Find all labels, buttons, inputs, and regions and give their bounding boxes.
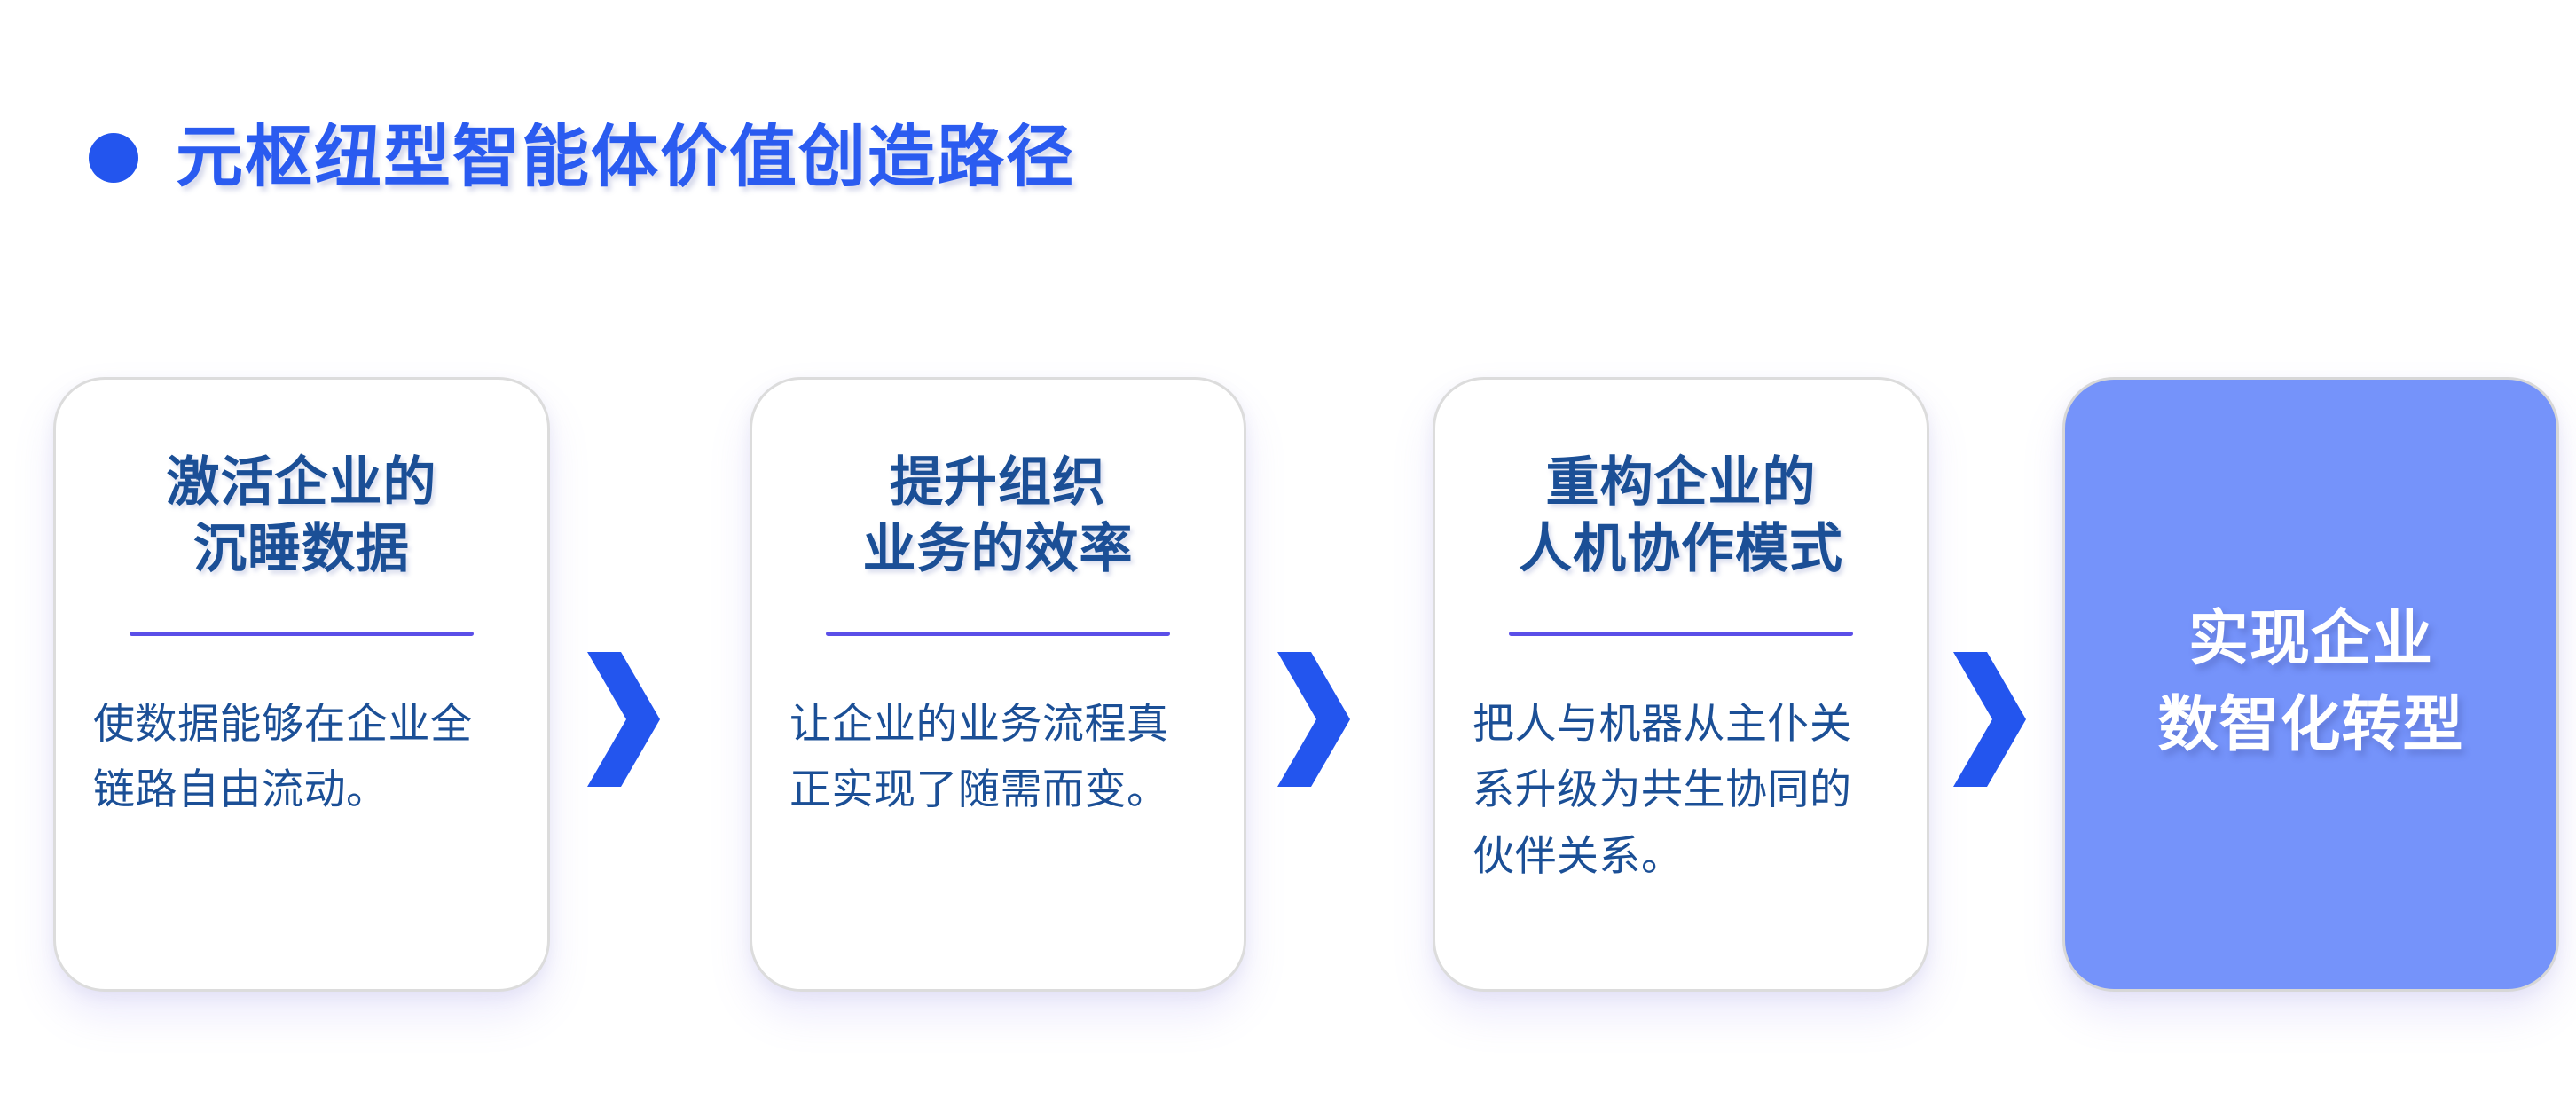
flow-step-card-4-outcome[interactable]: 实现企业 数智化转型 xyxy=(2062,377,2559,992)
flow-step-2-divider xyxy=(826,632,1170,636)
chevron-right-icon xyxy=(585,652,662,787)
flow-step-1-heading: 激活企业的 沉睡数据 xyxy=(167,449,437,582)
page-title: 元枢纽型智能体价值创造路径 xyxy=(89,124,1075,192)
flow-step-3-divider xyxy=(1509,632,1853,636)
flow-step-2-heading: 提升组织 业务的效率 xyxy=(863,449,1134,582)
page-title-text: 元枢纽型智能体价值创造路径 xyxy=(176,124,1075,192)
flow-step-card-1-content: 激活企业的 沉睡数据 使数据能够在企业全链路自由流动。 xyxy=(56,380,547,989)
flow-step-card-2[interactable]: 提升组织 业务的效率 让企业的业务流程真正实现了随需而变。 xyxy=(750,377,1246,992)
flow-step-card-2-content: 提升组织 业务的效率 让企业的业务流程真正实现了随需而变。 xyxy=(752,380,1244,989)
flow-step-4-heading: 实现企业 数智化转型 xyxy=(2157,596,2463,767)
flow-step-1-divider xyxy=(130,632,474,636)
flow-step-3-body: 把人与机器从主仆关系升级为共生协同的伙伴关系。 xyxy=(1473,691,1889,889)
flow-step-card-3-content: 重构企业的 人机协作模式 把人与机器从主仆关系升级为共生协同的伙伴关系。 xyxy=(1435,380,1927,989)
flow-step-card-3[interactable]: 重构企业的 人机协作模式 把人与机器从主仆关系升级为共生协同的伙伴关系。 xyxy=(1433,377,1929,992)
flow-step-card-4-content: 实现企业 数智化转型 xyxy=(2065,380,2556,989)
chevron-right-icon xyxy=(1952,652,2028,787)
flow-step-card-1[interactable]: 激活企业的 沉睡数据 使数据能够在企业全链路自由流动。 xyxy=(53,377,550,992)
filled-circle-icon xyxy=(89,133,138,183)
flow-step-2-body: 让企业的业务流程真正实现了随需而变。 xyxy=(789,691,1206,823)
value-creation-path-flow: 激活企业的 沉睡数据 使数据能够在企业全链路自由流动。 提升组织 业务的效率 让… xyxy=(0,377,2576,998)
flow-step-3-heading: 重构企业的 人机协作模式 xyxy=(1519,449,1843,582)
chevron-right-icon xyxy=(1276,652,1352,787)
flow-step-1-body: 使数据能够在企业全链路自由流动。 xyxy=(93,691,510,823)
